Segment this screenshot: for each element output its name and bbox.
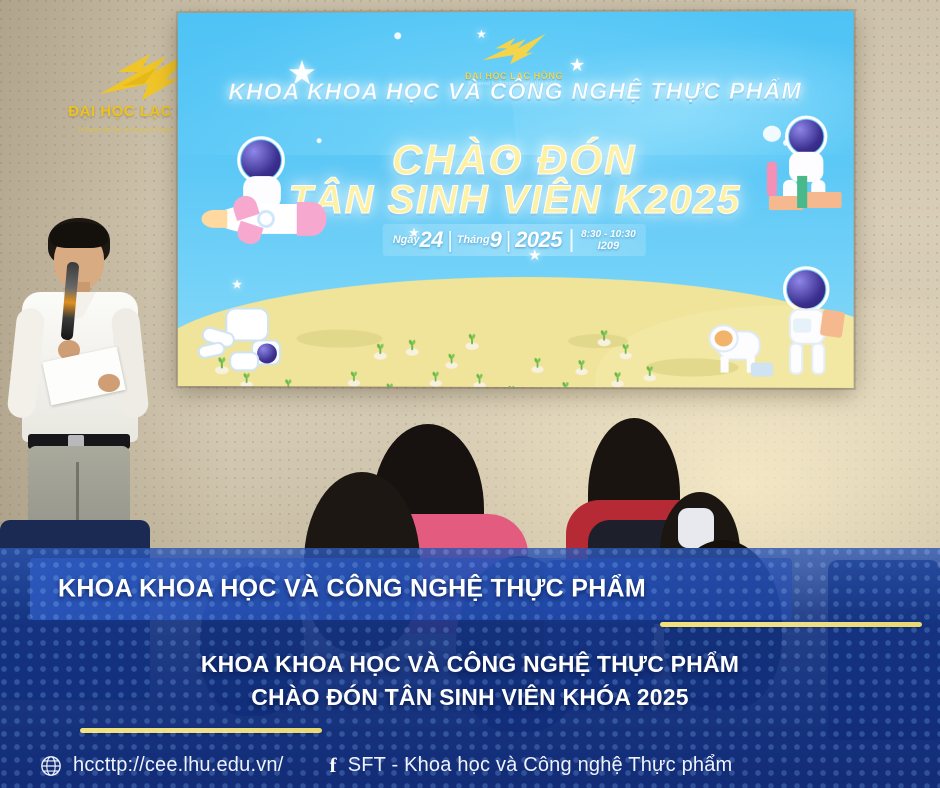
year-value: 2025 bbox=[515, 227, 562, 253]
space-dog-illustration bbox=[707, 308, 779, 378]
event-room: I209 bbox=[598, 240, 619, 252]
sprout-icon bbox=[558, 380, 573, 388]
sprout-icon bbox=[428, 370, 443, 388]
event-time: 8:30 - 10:30 bbox=[581, 229, 636, 240]
facebook-link[interactable]: f SFT - Khoa học và Công nghệ Thực phẩm bbox=[329, 753, 732, 778]
sprout-icon bbox=[618, 342, 633, 364]
accent-rule-bottom bbox=[80, 728, 322, 733]
website-url: hccttp://cee.lhu.edu.vn/ bbox=[73, 754, 283, 777]
date-separator: | bbox=[447, 227, 453, 253]
day-value: 24 bbox=[420, 227, 443, 253]
sprout-icon bbox=[404, 338, 420, 361]
presenter-person bbox=[6, 212, 156, 560]
sprout-icon bbox=[464, 332, 480, 355]
faculty-title-text: KHOA KHOA HỌC VÀ CÔNG NGHỆ THỰC PHẨM bbox=[30, 575, 792, 604]
astronaut-on-rocket-illustration bbox=[198, 134, 327, 254]
faculty-title-band: KHOA KHOA HỌC VÀ CÔNG NGHỆ THỰC PHẨM bbox=[30, 558, 792, 620]
sprout-icon bbox=[530, 356, 545, 378]
sprout-icon bbox=[596, 328, 612, 351]
sprout-icon bbox=[472, 372, 487, 388]
date-separator: | bbox=[505, 227, 511, 253]
sparkle-dot bbox=[394, 32, 401, 39]
month-value: 9 bbox=[490, 227, 502, 253]
slide-faculty-name: KHOA KHOA HỌC VÀ CÔNG NGHỆ THỰC PHẨM bbox=[178, 77, 854, 105]
photo-canvas: ĐẠI HỌC LẠC HỒNG Powered by Arizona Stat… bbox=[0, 0, 940, 788]
projection-screen: ★ ★ ★ ★ ★ ★ ★ ĐẠI HỌC LẠC HỒNG Powered b… bbox=[178, 11, 854, 388]
website-link[interactable]: hccttp://cee.lhu.edu.vn/ bbox=[40, 754, 283, 777]
facebook-icon: f bbox=[329, 753, 336, 778]
globe-icon bbox=[40, 755, 62, 777]
ground-crater bbox=[297, 330, 383, 348]
event-time-room: 8:30 - 10:30 I209 bbox=[570, 229, 636, 252]
star-icon: ★ bbox=[231, 278, 243, 291]
sprout-icon bbox=[346, 370, 361, 388]
bird-flight-icon bbox=[477, 32, 551, 66]
astronaut-on-books-illustration bbox=[761, 110, 848, 213]
headline-line-2: CHÀO ĐÓN TÂN SINH VIÊN KHÓA 2025 bbox=[0, 681, 940, 714]
star-icon: ★ bbox=[569, 56, 585, 74]
overlay-sheen bbox=[0, 548, 940, 624]
sprout-icon bbox=[372, 342, 388, 365]
accent-rule-top bbox=[660, 622, 922, 627]
sprout-icon bbox=[642, 364, 657, 386]
day-label: Ngày bbox=[393, 234, 420, 246]
headline-line-1: KHOA KHOA HỌC VÀ CÔNG NGHỆ THỰC PHẨM bbox=[0, 648, 940, 681]
slide-event-datetime: Ngày 24 | Tháng 9 | 2025 8:30 - 10:30 I2… bbox=[383, 224, 646, 256]
contact-footer: hccttp://cee.lhu.edu.vn/ f SFT - Khoa họ… bbox=[40, 753, 940, 778]
standing-astronaut-illustration bbox=[771, 268, 844, 381]
facebook-page-name: SFT - Khoa học và Công nghệ Thực phẩm bbox=[348, 754, 733, 777]
sprout-icon bbox=[574, 358, 589, 380]
sprout-icon bbox=[444, 352, 459, 374]
event-headline: KHOA KHOA HỌC VÀ CÔNG NGHỆ THỰC PHẨM CHÀ… bbox=[0, 648, 940, 713]
sprout-icon bbox=[610, 370, 625, 388]
month-label: Tháng bbox=[457, 234, 490, 246]
branding-overlay: KHOA KHOA HỌC VÀ CÔNG NGHỆ THỰC PHẨM KHO… bbox=[0, 548, 940, 788]
floating-astronaut-illustration bbox=[196, 304, 291, 384]
